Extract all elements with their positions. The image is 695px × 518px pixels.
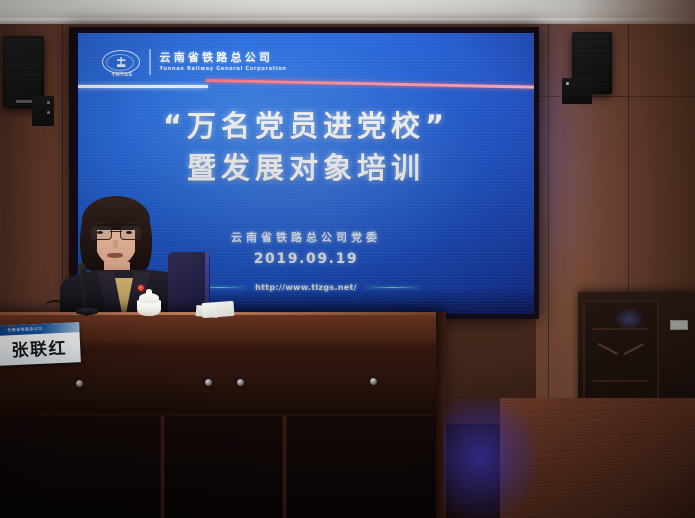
mouth xyxy=(107,253,123,258)
cabinet-light-glint xyxy=(614,308,644,330)
ceiling-shadow xyxy=(575,0,695,26)
cable xyxy=(44,300,66,316)
podium-panel-seam xyxy=(160,416,165,518)
nameplate: 云南省铁路总公司 张联红 xyxy=(0,322,81,366)
cabinet-door-moulding xyxy=(592,328,648,382)
hair-side-left xyxy=(80,210,97,270)
podium-lower-panel xyxy=(0,416,444,518)
eyebrow-left xyxy=(94,222,109,224)
company-name-cn: 云南省铁路总公司 xyxy=(160,52,287,65)
document-sheet-front xyxy=(202,301,235,318)
slide-title-line-2: 暨发展对象培训 xyxy=(78,147,534,189)
red-lapel-pin xyxy=(138,285,144,291)
glasses-bridge xyxy=(110,231,122,232)
speaker-bracket-left xyxy=(32,96,54,126)
nameplate-header-text: 云南省铁路总公司 xyxy=(7,325,42,333)
logo-divider xyxy=(149,49,151,75)
bracket-bolt xyxy=(566,82,569,85)
emblem-subtext: YNTGS xyxy=(103,72,141,78)
teacup-lid-knob xyxy=(146,289,152,294)
teacup-lid xyxy=(139,293,159,303)
podium-stud xyxy=(76,380,83,387)
eye-right xyxy=(126,231,132,234)
floor-blue-reflection xyxy=(444,398,536,518)
header-underline xyxy=(78,85,208,88)
podium-stud xyxy=(370,378,377,385)
podium-panel-seam xyxy=(282,416,287,518)
slide-title-block: “万名党员进党校” 暨发展对象培训 xyxy=(78,105,534,189)
podium-stud xyxy=(205,379,212,386)
speaker-badge-left xyxy=(16,100,32,103)
accent-line-pink xyxy=(206,79,534,88)
conference-hall-photo: YNTGS 云南省铁路总公司 Yunnan Railway General Co… xyxy=(0,0,695,518)
wall-cabinet xyxy=(578,292,695,408)
railway-emblem-icon: YNTGS xyxy=(102,50,140,74)
nameplate-name: 张联红 xyxy=(0,333,81,362)
speaker-bracket-right xyxy=(562,78,592,104)
logo-text-block: 云南省铁路总公司 Yunnan Railway General Corporat… xyxy=(160,52,287,72)
emblem-glyph xyxy=(117,57,126,67)
bracket-bolt xyxy=(47,111,50,114)
microphone-base xyxy=(76,308,98,315)
podium-stud xyxy=(237,379,244,386)
podium-front-face xyxy=(0,354,444,414)
slide-logo-group: YNTGS 云南省铁路总公司 Yunnan Railway General Co… xyxy=(102,49,287,75)
slide-title-line-1: “万名党员进党校” xyxy=(78,105,534,147)
company-name-en: Yunnan Railway General Corporation xyxy=(160,66,287,72)
bracket-bolt xyxy=(47,101,50,104)
nose xyxy=(113,240,118,248)
eyebrow-right xyxy=(123,222,138,224)
eye-left xyxy=(97,231,103,234)
cabinet-label-plate xyxy=(670,320,688,330)
